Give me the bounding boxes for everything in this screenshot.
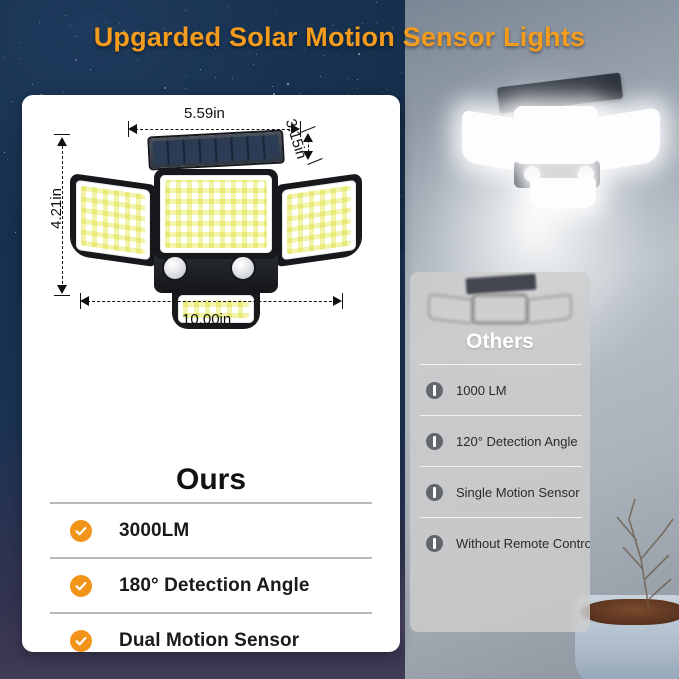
left-led-array <box>81 186 145 255</box>
dimension-line-left <box>62 141 63 289</box>
product-dimension-diagram: 5.59in 3.15in 4.21in 10.00in <box>22 95 400 350</box>
arrow-left-down <box>57 285 67 294</box>
others-feature-label: Without Remote Control <box>456 536 590 551</box>
others-left-light-head <box>428 293 474 325</box>
exclamation-circle-icon <box>426 535 443 552</box>
others-feature-row: Single Motion Sensor <box>420 466 582 517</box>
motion-sensor-right <box>230 255 256 281</box>
hero-left-light-head <box>462 110 514 170</box>
center-lens <box>160 175 272 253</box>
arrow-left-up <box>57 137 67 146</box>
exclamation-circle-icon <box>426 382 443 399</box>
solar-cells <box>152 135 279 166</box>
others-right-light-head <box>526 293 572 325</box>
exclamation-circle-icon <box>426 484 443 501</box>
ours-feature-row: 3000LM <box>50 502 372 557</box>
page-title: Upgarded Solar Motion Sensor Lights <box>0 22 679 53</box>
right-lens <box>282 180 356 260</box>
dimension-label-bottom: 10.00in <box>182 311 231 328</box>
check-circle-icon <box>70 520 92 542</box>
center-led-array <box>165 180 267 248</box>
others-feature-row: 120° Detection Angle <box>420 415 582 466</box>
others-center-light-head <box>472 294 528 324</box>
right-led-array <box>287 186 351 255</box>
arrow-bottom-right <box>333 296 342 306</box>
check-circle-icon <box>70 575 92 597</box>
others-feature-list: 1000 LM 120° Detection Angle Single Moti… <box>420 364 582 568</box>
others-card: Others 1000 LM 120° Detection Angle Sing… <box>410 272 590 632</box>
others-product-photo <box>410 272 590 330</box>
hero-product-photo <box>470 80 670 240</box>
ours-feature-row: Dual Motion Sensor <box>50 612 372 652</box>
dimension-line-bottom <box>87 301 337 302</box>
check-circle-icon <box>70 630 92 652</box>
tick-bottom-right <box>342 293 343 309</box>
dried-branches <box>579 489 675 609</box>
arrow-top-left <box>128 124 137 134</box>
arrow-bottom-left <box>80 296 89 306</box>
others-feature-label: 1000 LM <box>456 383 507 398</box>
motion-sensor-left <box>162 255 188 281</box>
dimension-label-top: 5.59in <box>184 105 225 122</box>
others-solar-panel <box>466 274 537 295</box>
ours-feature-label: 3000LM <box>119 520 189 542</box>
ours-feature-row: 180° Detection Angle <box>50 557 372 612</box>
ours-heading: Ours <box>22 463 400 497</box>
left-lens <box>76 180 150 260</box>
arrow-diag-up <box>303 133 313 142</box>
hero-center-light-head <box>514 106 598 164</box>
solar-panel <box>147 129 285 170</box>
exclamation-circle-icon <box>426 433 443 450</box>
left-light-head <box>70 173 156 267</box>
right-light-head <box>276 173 362 267</box>
tick-left-bottom <box>54 295 70 296</box>
hero-bottom-light-head <box>530 178 596 208</box>
others-feature-row: 1000 LM <box>420 364 582 415</box>
center-light-head <box>154 169 278 259</box>
ours-card: 5.59in 3.15in 4.21in 10.00in Ours <box>22 95 400 652</box>
hero-right-light-head <box>598 107 660 171</box>
others-feature-label: Single Motion Sensor <box>456 485 580 500</box>
others-feature-label: 120° Detection Angle <box>456 434 578 449</box>
ours-feature-list: 3000LM 180° Detection Angle Dual Motion … <box>50 502 372 652</box>
others-heading: Others <box>410 330 590 354</box>
ours-feature-label: Dual Motion Sensor <box>119 630 299 652</box>
tick-diag-top <box>300 126 315 133</box>
ours-feature-label: 180° Detection Angle <box>119 575 310 597</box>
others-feature-row: Without Remote Control <box>420 517 582 568</box>
arrow-diag-down <box>303 151 313 160</box>
tick-left-top <box>54 134 70 135</box>
dimension-line-top <box>135 129 295 130</box>
